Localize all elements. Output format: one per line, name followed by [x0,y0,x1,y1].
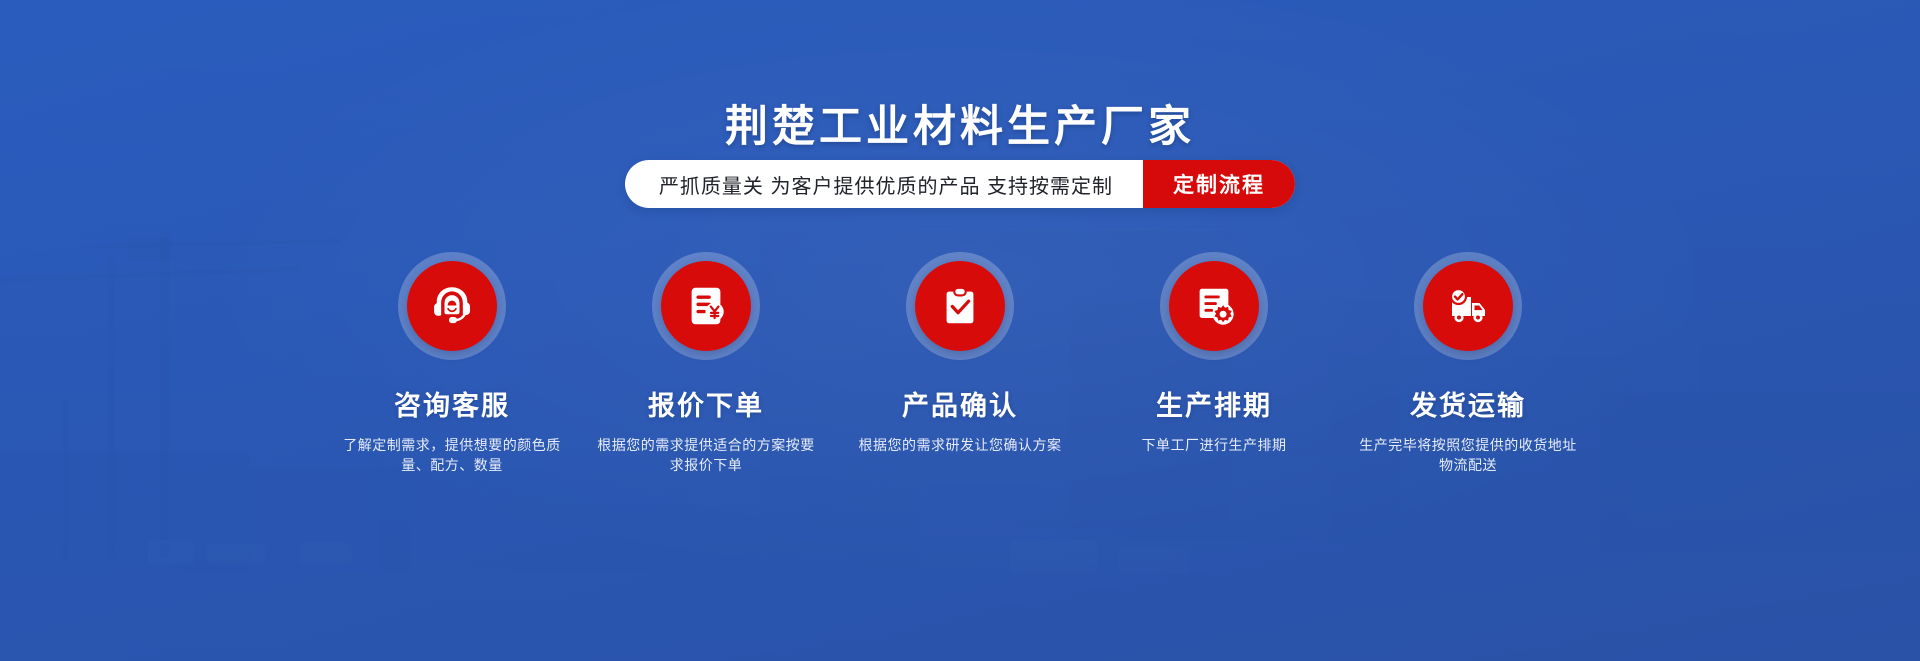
step-title: 咨询客服 [394,384,510,423]
slogan-pill: 严抓质量关 为客户提供优质的产品 支持按需定制 定制流程 [625,160,1295,208]
banner-content: 荆楚工业材料生产厂家 严抓质量关 为客户提供优质的产品 支持按需定制 定制流程 [0,0,1920,661]
step-description: 根据您的需求提供适合的方案按要求报价下单 [591,435,821,475]
step-title: 发货运输 [1410,384,1526,423]
step-title: 报价下单 [648,384,764,423]
clipboard-check-icon [915,261,1005,351]
headset-support-icon [407,261,497,351]
step-description: 根据您的需求研发让您确认方案 [859,435,1062,455]
slogan-bar: 严抓质量关 为客户提供优质的产品 支持按需定制 定制流程 [0,160,1920,208]
step-icon-ring [1414,252,1522,360]
process-steps: 咨询客服 了解定制需求，提供想要的颜色质量、配方、数量 [325,252,1595,475]
step-icon-ring [1160,252,1268,360]
step-icon-ring [906,252,1014,360]
custom-process-button[interactable]: 定制流程 [1143,160,1295,208]
step-description: 生产完毕将按照您提供的收货地址物流配送 [1353,435,1583,475]
step-item-confirm[interactable]: 产品确认 根据您的需求研发让您确认方案 [833,252,1087,455]
promo-banner: 荆楚工业材料生产厂家 严抓质量关 为客户提供优质的产品 支持按需定制 定制流程 [0,0,1920,661]
delivery-truck-check-icon [1423,261,1513,351]
invoice-yuan-icon [661,261,751,351]
step-item-quote[interactable]: 报价下单 根据您的需求提供适合的方案按要求报价下单 [579,252,833,475]
step-item-shipping[interactable]: 发货运输 生产完毕将按照您提供的收货地址物流配送 [1341,252,1595,475]
step-item-schedule[interactable]: 生产排期 下单工厂进行生产排期 [1087,252,1341,455]
step-description: 了解定制需求，提供想要的颜色质量、配方、数量 [337,435,567,475]
step-title: 生产排期 [1156,384,1272,423]
document-gear-icon [1169,261,1259,351]
slogan-text: 严抓质量关 为客户提供优质的产品 支持按需定制 [625,160,1143,208]
step-description: 下单工厂进行生产排期 [1142,435,1287,455]
step-icon-ring [652,252,760,360]
step-title: 产品确认 [902,384,1018,423]
page-title: 荆楚工业材料生产厂家 [0,92,1920,154]
step-item-consult[interactable]: 咨询客服 了解定制需求，提供想要的颜色质量、配方、数量 [325,252,579,475]
step-icon-ring [398,252,506,360]
